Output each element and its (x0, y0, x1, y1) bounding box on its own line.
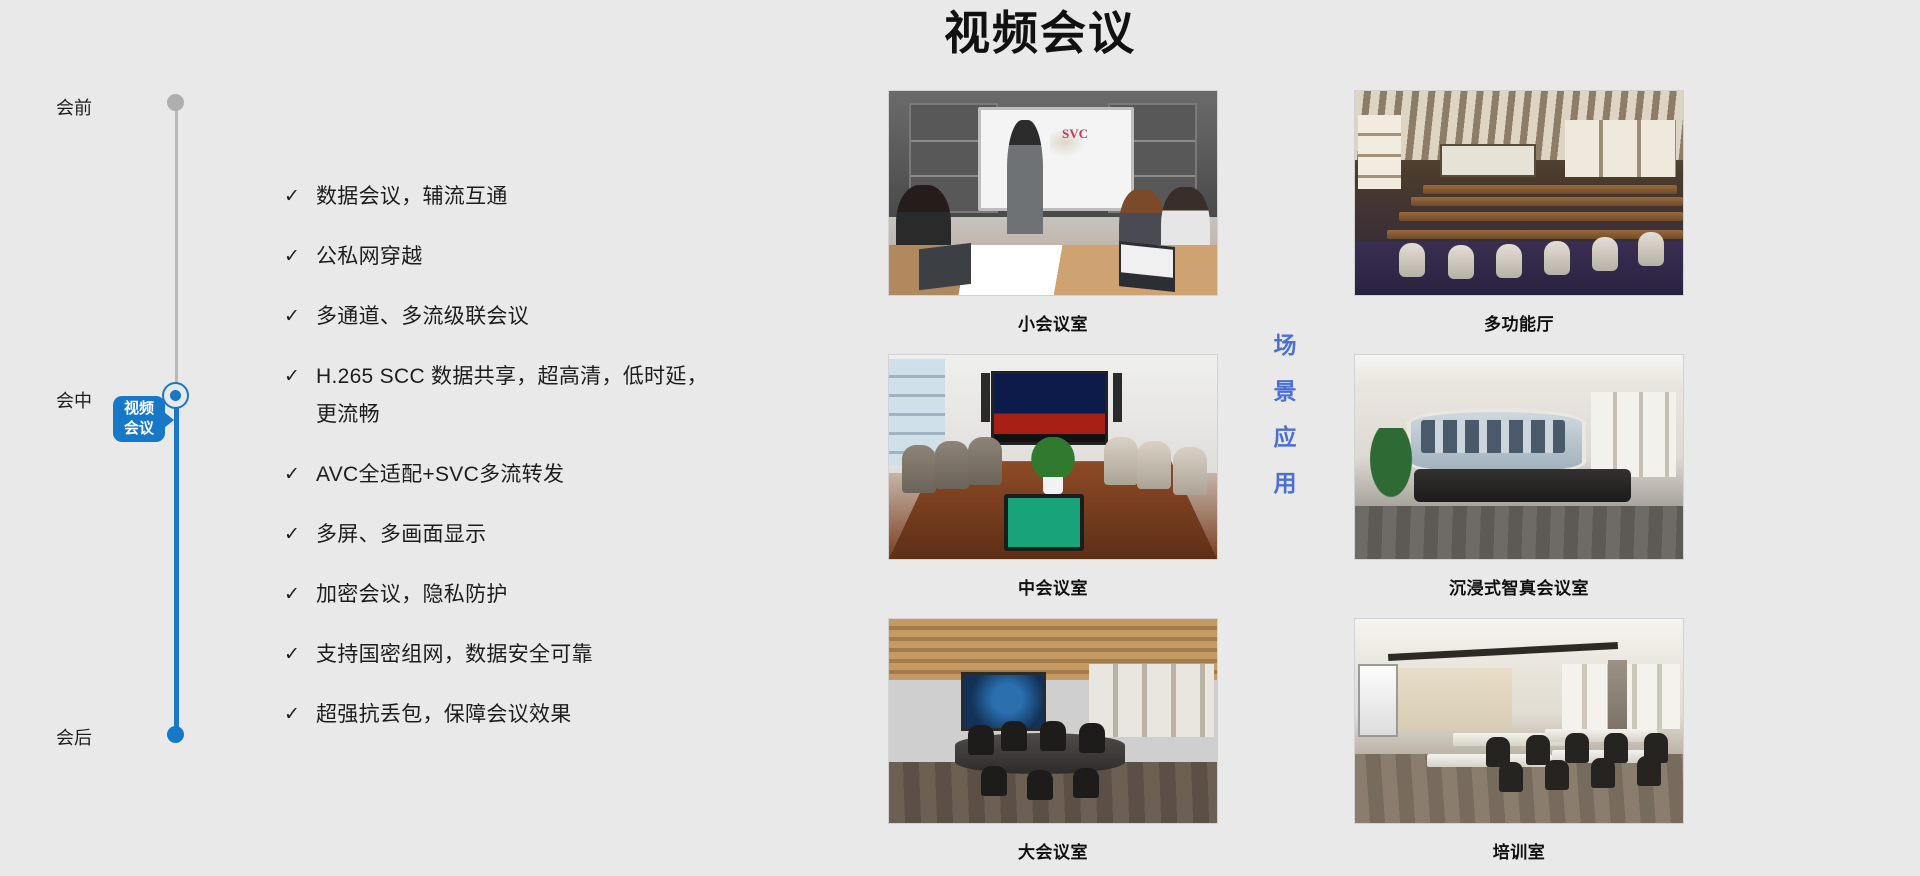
timeline-label-during: 会中 (2, 387, 92, 413)
timeline-label-before: 会前 (2, 94, 92, 120)
feature-text: 多通道、多流级联会议 (316, 298, 714, 336)
feature-text: 数据会议，辅流互通 (316, 178, 714, 216)
scene-image-immersive-telepresence-room (1354, 354, 1684, 560)
check-icon: ✓ (284, 516, 316, 554)
timeline-label-after: 会后 (2, 724, 92, 750)
feature-text: 超强抗丢包，保障会议效果 (316, 696, 714, 734)
feature-text: 多屏、多画面显示 (316, 516, 714, 554)
check-icon: ✓ (284, 178, 316, 216)
check-icon: ✓ (284, 238, 316, 276)
video-conference-badge[interactable]: 视频 会议 (113, 396, 165, 442)
scene-image-training-room (1354, 618, 1684, 824)
list-item: ✓ 公私网穿越 (284, 238, 714, 276)
list-item: ✓ 超强抗丢包，保障会议效果 (284, 696, 714, 734)
check-icon: ✓ (284, 298, 316, 336)
check-icon: ✓ (284, 576, 316, 614)
timeline-rail-lower (174, 390, 179, 736)
timeline-node-before[interactable] (167, 94, 184, 111)
feature-list: ✓ 数据会议，辅流互通 ✓ 公私网穿越 ✓ 多通道、多流级联会议 ✓ H.265… (284, 178, 714, 756)
timeline-node-during[interactable] (162, 382, 189, 409)
timeline-node-after[interactable] (167, 726, 184, 743)
feature-text: H.265 SCC 数据共享，超高清，低时延，更流畅 (316, 358, 714, 434)
list-item: ✓ 多屏、多画面显示 (284, 516, 714, 554)
list-item: ✓ 数据会议，辅流互通 (284, 178, 714, 216)
gallery-item-multifunction-hall[interactable]: 多功能厅 (1354, 90, 1684, 335)
feature-text: 支持国密组网，数据安全可靠 (316, 636, 714, 674)
scene-caption: 多功能厅 (1354, 310, 1684, 335)
scene-caption: 小会议室 (888, 310, 1218, 335)
gallery-item-training-room[interactable]: 培训室 (1354, 618, 1684, 863)
scene-application-vertical-label: 场 景 应 用 (1258, 322, 1314, 506)
scene-gallery: 场 景 应 用 SVC 小会议室 (888, 90, 1688, 860)
feature-text: AVC全适配+SVC多流转发 (316, 456, 714, 494)
scene-caption: 中会议室 (888, 574, 1218, 599)
gallery-item-small-meeting-room[interactable]: SVC 小会议室 (888, 90, 1218, 335)
check-icon: ✓ (284, 358, 316, 396)
gallery-item-immersive-telepresence-room[interactable]: 沉浸式智真会议室 (1354, 354, 1684, 599)
list-item: ✓ H.265 SCC 数据共享，超高清，低时延，更流畅 (284, 358, 714, 434)
check-icon: ✓ (284, 456, 316, 494)
vertical-label-char: 景 (1258, 368, 1314, 414)
list-item: ✓ AVC全适配+SVC多流转发 (284, 456, 714, 494)
badge-line-2: 会议 (113, 419, 165, 439)
feature-text: 加密会议，隐私防护 (316, 576, 714, 614)
list-item: ✓ 多通道、多流级联会议 (284, 298, 714, 336)
scene-caption: 大会议室 (888, 838, 1218, 863)
vertical-label-char: 应 (1258, 414, 1314, 460)
gallery-item-medium-meeting-room[interactable]: 中会议室 (888, 354, 1218, 599)
scene-image-large-meeting-room (888, 618, 1218, 824)
scene-caption: 培训室 (1354, 838, 1684, 863)
scene-caption: 沉浸式智真会议室 (1354, 574, 1684, 599)
vertical-label-char: 用 (1258, 460, 1314, 506)
gallery-item-large-meeting-room[interactable]: 大会议室 (888, 618, 1218, 863)
list-item: ✓ 支持国密组网，数据安全可靠 (284, 636, 714, 674)
scene-image-multifunction-hall (1354, 90, 1684, 296)
timeline-rail-upper (175, 102, 178, 392)
scene-image-small-meeting-room: SVC (888, 90, 1218, 296)
feature-text: 公私网穿越 (316, 238, 714, 276)
check-icon: ✓ (284, 696, 316, 734)
badge-line-1: 视频 (113, 399, 165, 419)
list-item: ✓ 加密会议，隐私防护 (284, 576, 714, 614)
check-icon: ✓ (284, 636, 316, 674)
page-title-text: 视频会议 (944, 2, 1136, 64)
vertical-label-char: 场 (1258, 322, 1314, 368)
page-title: 视频会议 (0, 2, 1920, 64)
scene-image-medium-meeting-room (888, 354, 1218, 560)
